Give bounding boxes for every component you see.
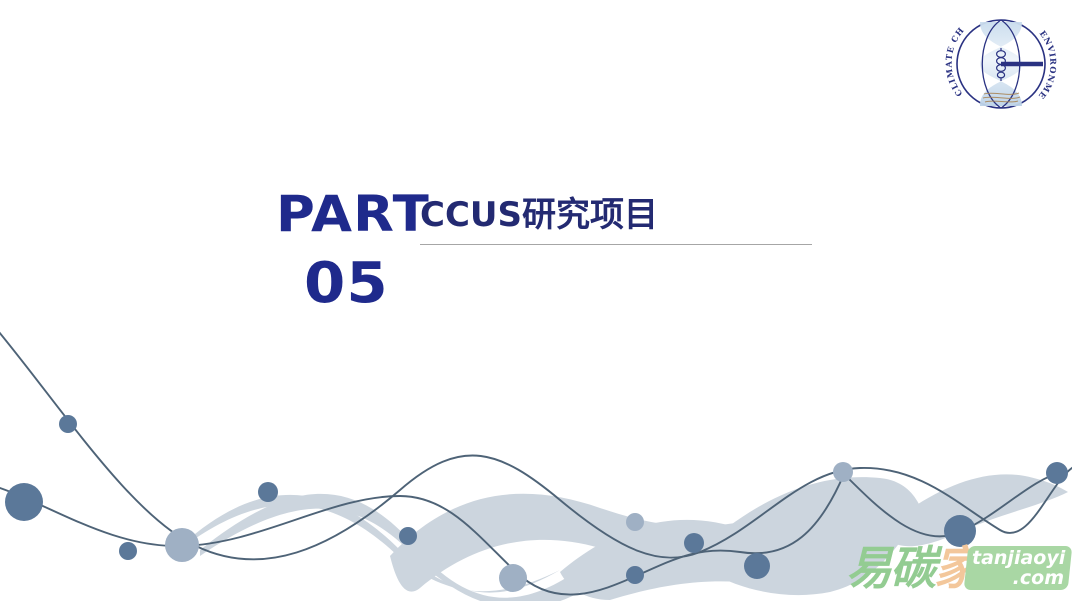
logo-left-arc-text: CLIMATE CHANGE (930, 2, 966, 98)
wave-node (165, 528, 199, 562)
wave-node (119, 542, 137, 560)
heading-divider (420, 244, 812, 245)
wave-node (258, 482, 278, 502)
climate-change-environment-logo: CLIMATE CHANGE ENVIRONMENT (930, 2, 1072, 128)
wave-node (626, 566, 644, 584)
watermark-char-1: 易 (846, 541, 890, 595)
watermark-domain-text: tanjiaoyi .com (972, 548, 1068, 588)
wave-node (59, 415, 77, 433)
wave-node (684, 533, 704, 553)
wave-node (1046, 462, 1068, 484)
part-label: PART (276, 186, 430, 242)
site-watermark: 易碳家 tanjiaoyi .com (846, 540, 1072, 598)
wave-node (399, 527, 417, 545)
presentation-slide: CLIMATE CHANGE ENVIRONMENT PART 05 CCUS研… (0, 0, 1072, 601)
wave-node (499, 564, 527, 592)
watermark-domain-line2: .com (972, 568, 1068, 588)
wave-node (833, 462, 853, 482)
page-title: CCUS研究项目 (420, 194, 658, 236)
watermark-char-2: 碳 (890, 541, 934, 595)
watermark-cjk-text: 易碳家 (846, 542, 978, 594)
wave-node (626, 513, 644, 531)
wave-node (744, 553, 770, 579)
wave-node (5, 483, 43, 521)
watermark-domain-line1: tanjiaoyi (972, 547, 1065, 569)
